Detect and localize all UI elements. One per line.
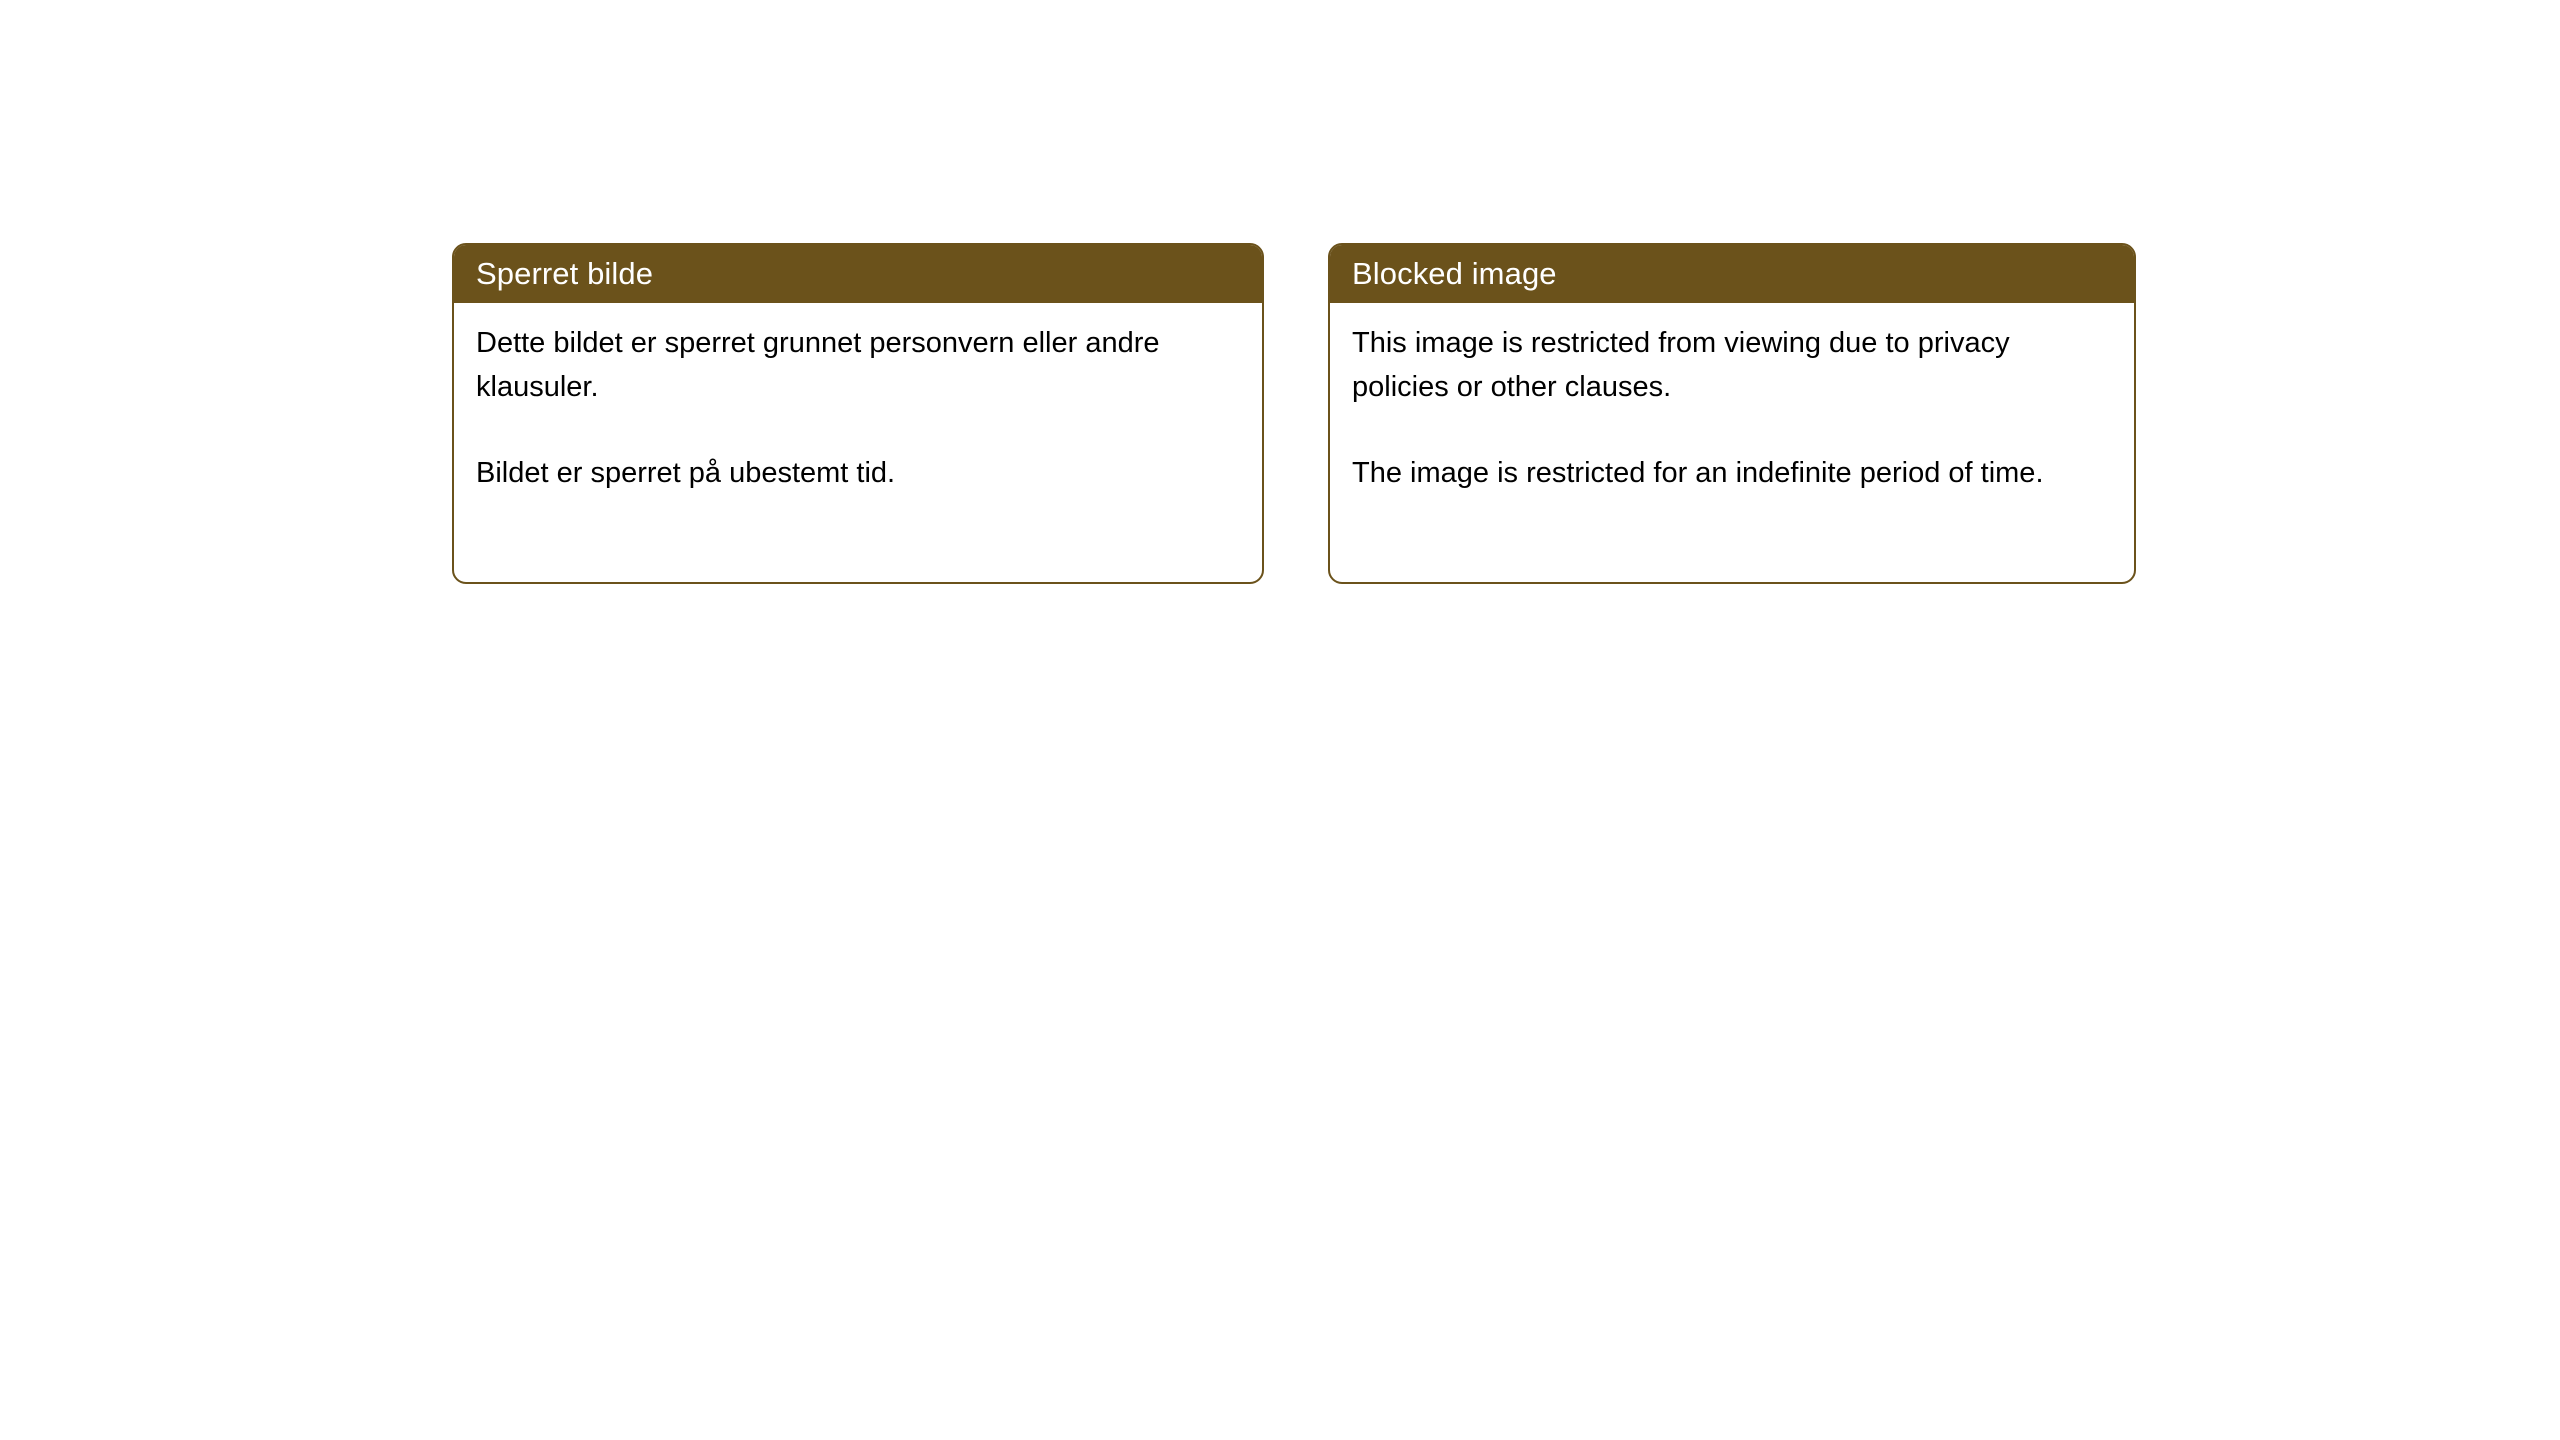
card-paragraph-secondary-norwegian: Bildet er sperret på ubestemt tid. [476,451,1240,495]
blocked-image-card-norwegian: Sperret bilde Dette bildet er sperret gr… [452,243,1264,584]
paragraph-spacer [1352,409,2112,451]
blocked-image-card-english: Blocked image This image is restricted f… [1328,243,2136,584]
card-header-english: Blocked image [1330,245,2134,303]
card-paragraph-primary-norwegian: Dette bildet er sperret grunnet personve… [476,321,1240,409]
card-header-norwegian: Sperret bilde [454,245,1262,303]
page-canvas: Sperret bilde Dette bildet er sperret gr… [0,0,2560,1440]
card-title-norwegian: Sperret bilde [476,257,653,291]
card-body-english: This image is restricted from viewing du… [1330,303,2134,517]
card-body-norwegian: Dette bildet er sperret grunnet personve… [454,303,1262,517]
paragraph-spacer [476,409,1240,451]
card-title-english: Blocked image [1352,257,1557,291]
card-paragraph-primary-english: This image is restricted from viewing du… [1352,321,2112,409]
card-paragraph-secondary-english: The image is restricted for an indefinit… [1352,451,2112,495]
